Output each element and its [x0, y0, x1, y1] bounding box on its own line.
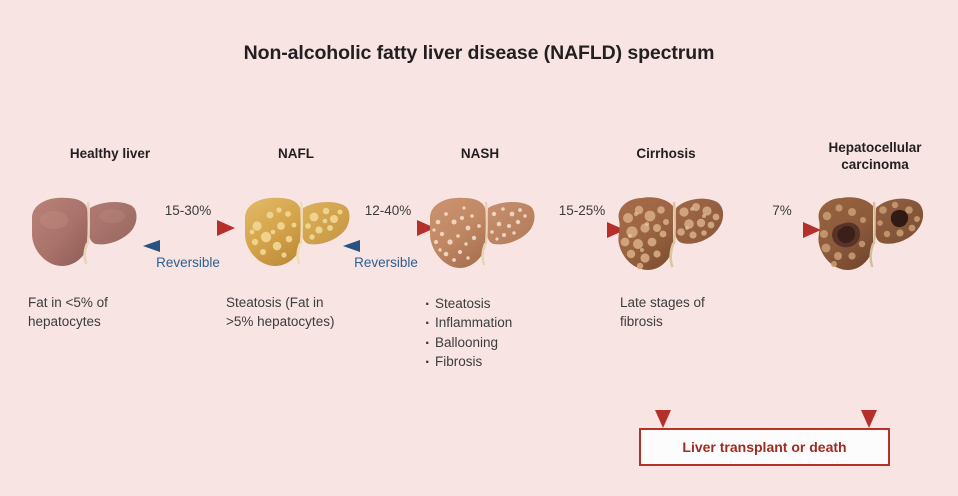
stage-label-healthy-liver: Healthy liver [10, 146, 210, 163]
outcome-box: Liver transplant or death [639, 428, 890, 466]
page-title: Non-alcoholic fatty liver disease (NAFLD… [0, 42, 958, 65]
stage-description-nafl: Steatosis (Fat in >5% hepatocytes) [226, 294, 401, 331]
nafld-spectrum-diagram: Non-alcoholic fatty liver disease (NAFLD… [0, 0, 958, 496]
list-item: Inflammation [424, 313, 554, 332]
list-item: Fibrosis [424, 352, 554, 371]
stage-label-cirrhosis: Cirrhosis [586, 146, 746, 163]
transition-percent-healthy-to-nafl: 15-30% [140, 203, 236, 218]
stage-label-nash: NASH [380, 146, 580, 163]
stage-bullets-nash: Steatosis Inflammation Ballooning Fibros… [424, 294, 554, 372]
transition-percent-nafl-to-nash: 12-40% [340, 203, 436, 218]
transition-percent-cirrhosis-to-hcc: 7% [742, 203, 822, 218]
stage-label-hepatocellular-carcinoma: Hepatocellular carcinoma [795, 140, 955, 174]
stage-label-nafl: NAFL [196, 146, 396, 163]
list-item: Steatosis [424, 294, 554, 313]
hcc-liver-icon [812, 190, 927, 282]
cirrhotic-liver-icon [612, 190, 727, 282]
healthy-liver-icon [26, 192, 141, 277]
stage-description-healthy-liver: Fat in <5% of hepatocytes [28, 294, 178, 331]
arrow-cirrhosis-to-outcome [652, 340, 674, 430]
arrow-hcc-to-outcome [858, 288, 880, 430]
transition-reversible-nafl-to-nash: Reversible [334, 255, 438, 270]
stage-description-cirrhosis: Late stages of fibrosis [620, 294, 770, 331]
list-item: Ballooning [424, 333, 554, 352]
outcome-label: Liver transplant or death [682, 439, 846, 455]
transition-reversible-healthy-to-nafl: Reversible [136, 255, 240, 270]
steatohepatitis-liver-icon [424, 192, 539, 277]
